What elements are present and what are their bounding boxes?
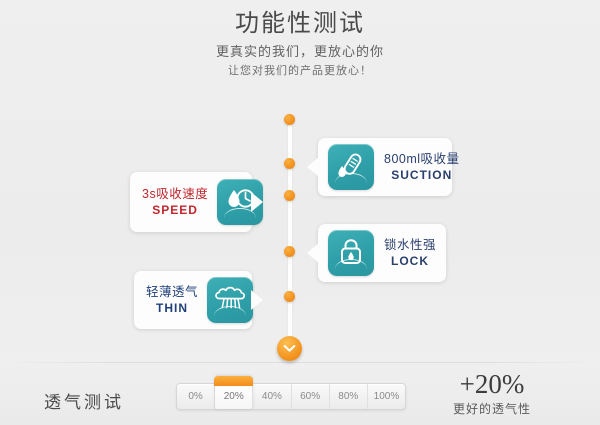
feature-card-thin-en: THIN xyxy=(146,301,198,316)
slider-option-5[interactable]: 100% xyxy=(368,384,405,409)
breathability-test-label: 透气测试 xyxy=(44,388,124,413)
lock-droplet-icon xyxy=(328,230,374,276)
chevron-down-icon[interactable] xyxy=(277,336,302,361)
feature-card-suction[interactable]: 800ml吸收量 SUCTION xyxy=(318,138,452,196)
breathability-slider[interactable]: 0% 20% 40% 60% 80% 100% xyxy=(176,383,406,410)
test-tube-droplet-icon xyxy=(328,144,374,190)
feature-card-lock-en: LOCK xyxy=(384,254,436,269)
page-header: 功能性测试 更真实的我们，更放心的你 让您对我们的产品更放心！ xyxy=(0,8,600,80)
feature-card-lock-text: 锁水性强 LOCK xyxy=(384,237,436,269)
timeline-dot-5 xyxy=(284,291,295,302)
feature-card-speed-cn: 3s吸收速度 xyxy=(142,186,208,203)
result-caption: 更好的透气性 xyxy=(412,400,572,418)
card-pointer-suction xyxy=(307,157,319,177)
timeline-dot-3 xyxy=(284,190,295,201)
timeline-dot-2 xyxy=(284,158,295,169)
slider-option-4[interactable]: 80% xyxy=(330,384,368,409)
feature-card-speed-en: SPEED xyxy=(142,203,208,218)
page-root: 功能性测试 更真实的我们，更放心的你 让您对我们的产品更放心！ 3s吸收速度 S… xyxy=(0,0,600,425)
breathable-tree-icon xyxy=(207,277,253,323)
timeline-track xyxy=(288,118,292,350)
page-subtitle-primary: 更真实的我们，更放心的你 xyxy=(0,42,600,62)
feature-card-lock[interactable]: 锁水性强 LOCK xyxy=(318,224,446,282)
card-pointer-thin xyxy=(251,290,263,310)
section-divider xyxy=(0,362,600,363)
feature-card-lock-cn: 锁水性强 xyxy=(384,237,436,254)
card-pointer-speed xyxy=(251,192,263,212)
feature-card-suction-en: SUCTION xyxy=(384,168,460,183)
result-number: +20% xyxy=(412,368,572,400)
feature-card-speed[interactable]: 3s吸收速度 SPEED xyxy=(130,172,252,232)
slider-option-1[interactable]: 20% xyxy=(215,384,253,409)
timeline-dot-1 xyxy=(284,114,295,125)
feature-card-suction-cn: 800ml吸收量 xyxy=(384,151,460,168)
page-title: 功能性测试 xyxy=(0,8,600,40)
slider-option-0[interactable]: 0% xyxy=(177,384,215,409)
feature-card-suction-text: 800ml吸收量 SUCTION xyxy=(384,151,460,183)
timeline-dot-4 xyxy=(284,246,295,257)
feature-card-thin-cn: 轻薄透气 xyxy=(146,284,198,301)
result-block: +20% 更好的透气性 xyxy=(412,368,572,418)
feature-card-thin-text: 轻薄透气 THIN xyxy=(146,284,198,316)
card-pointer-lock xyxy=(307,243,319,263)
slider-option-2[interactable]: 40% xyxy=(253,384,291,409)
feature-card-thin[interactable]: 轻薄透气 THIN xyxy=(134,271,252,329)
page-subtitle-secondary: 让您对我们的产品更放心！ xyxy=(0,62,600,80)
slider-option-3[interactable]: 60% xyxy=(292,384,330,409)
feature-card-speed-text: 3s吸收速度 SPEED xyxy=(142,186,208,218)
